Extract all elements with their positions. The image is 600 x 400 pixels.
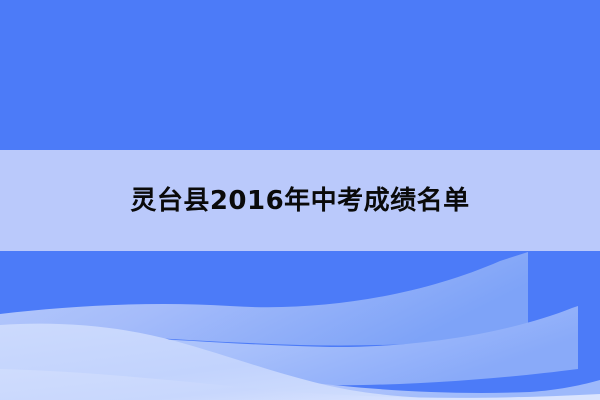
wave-graphic (0, 251, 600, 400)
banner-image: 灵台县2016年中考成绩名单 (0, 0, 600, 400)
title-band: 灵台县2016年中考成绩名单 (0, 150, 600, 251)
wave-decoration-band (0, 251, 600, 400)
page-title: 灵台县2016年中考成绩名单 (130, 188, 469, 214)
top-color-band (0, 0, 600, 150)
